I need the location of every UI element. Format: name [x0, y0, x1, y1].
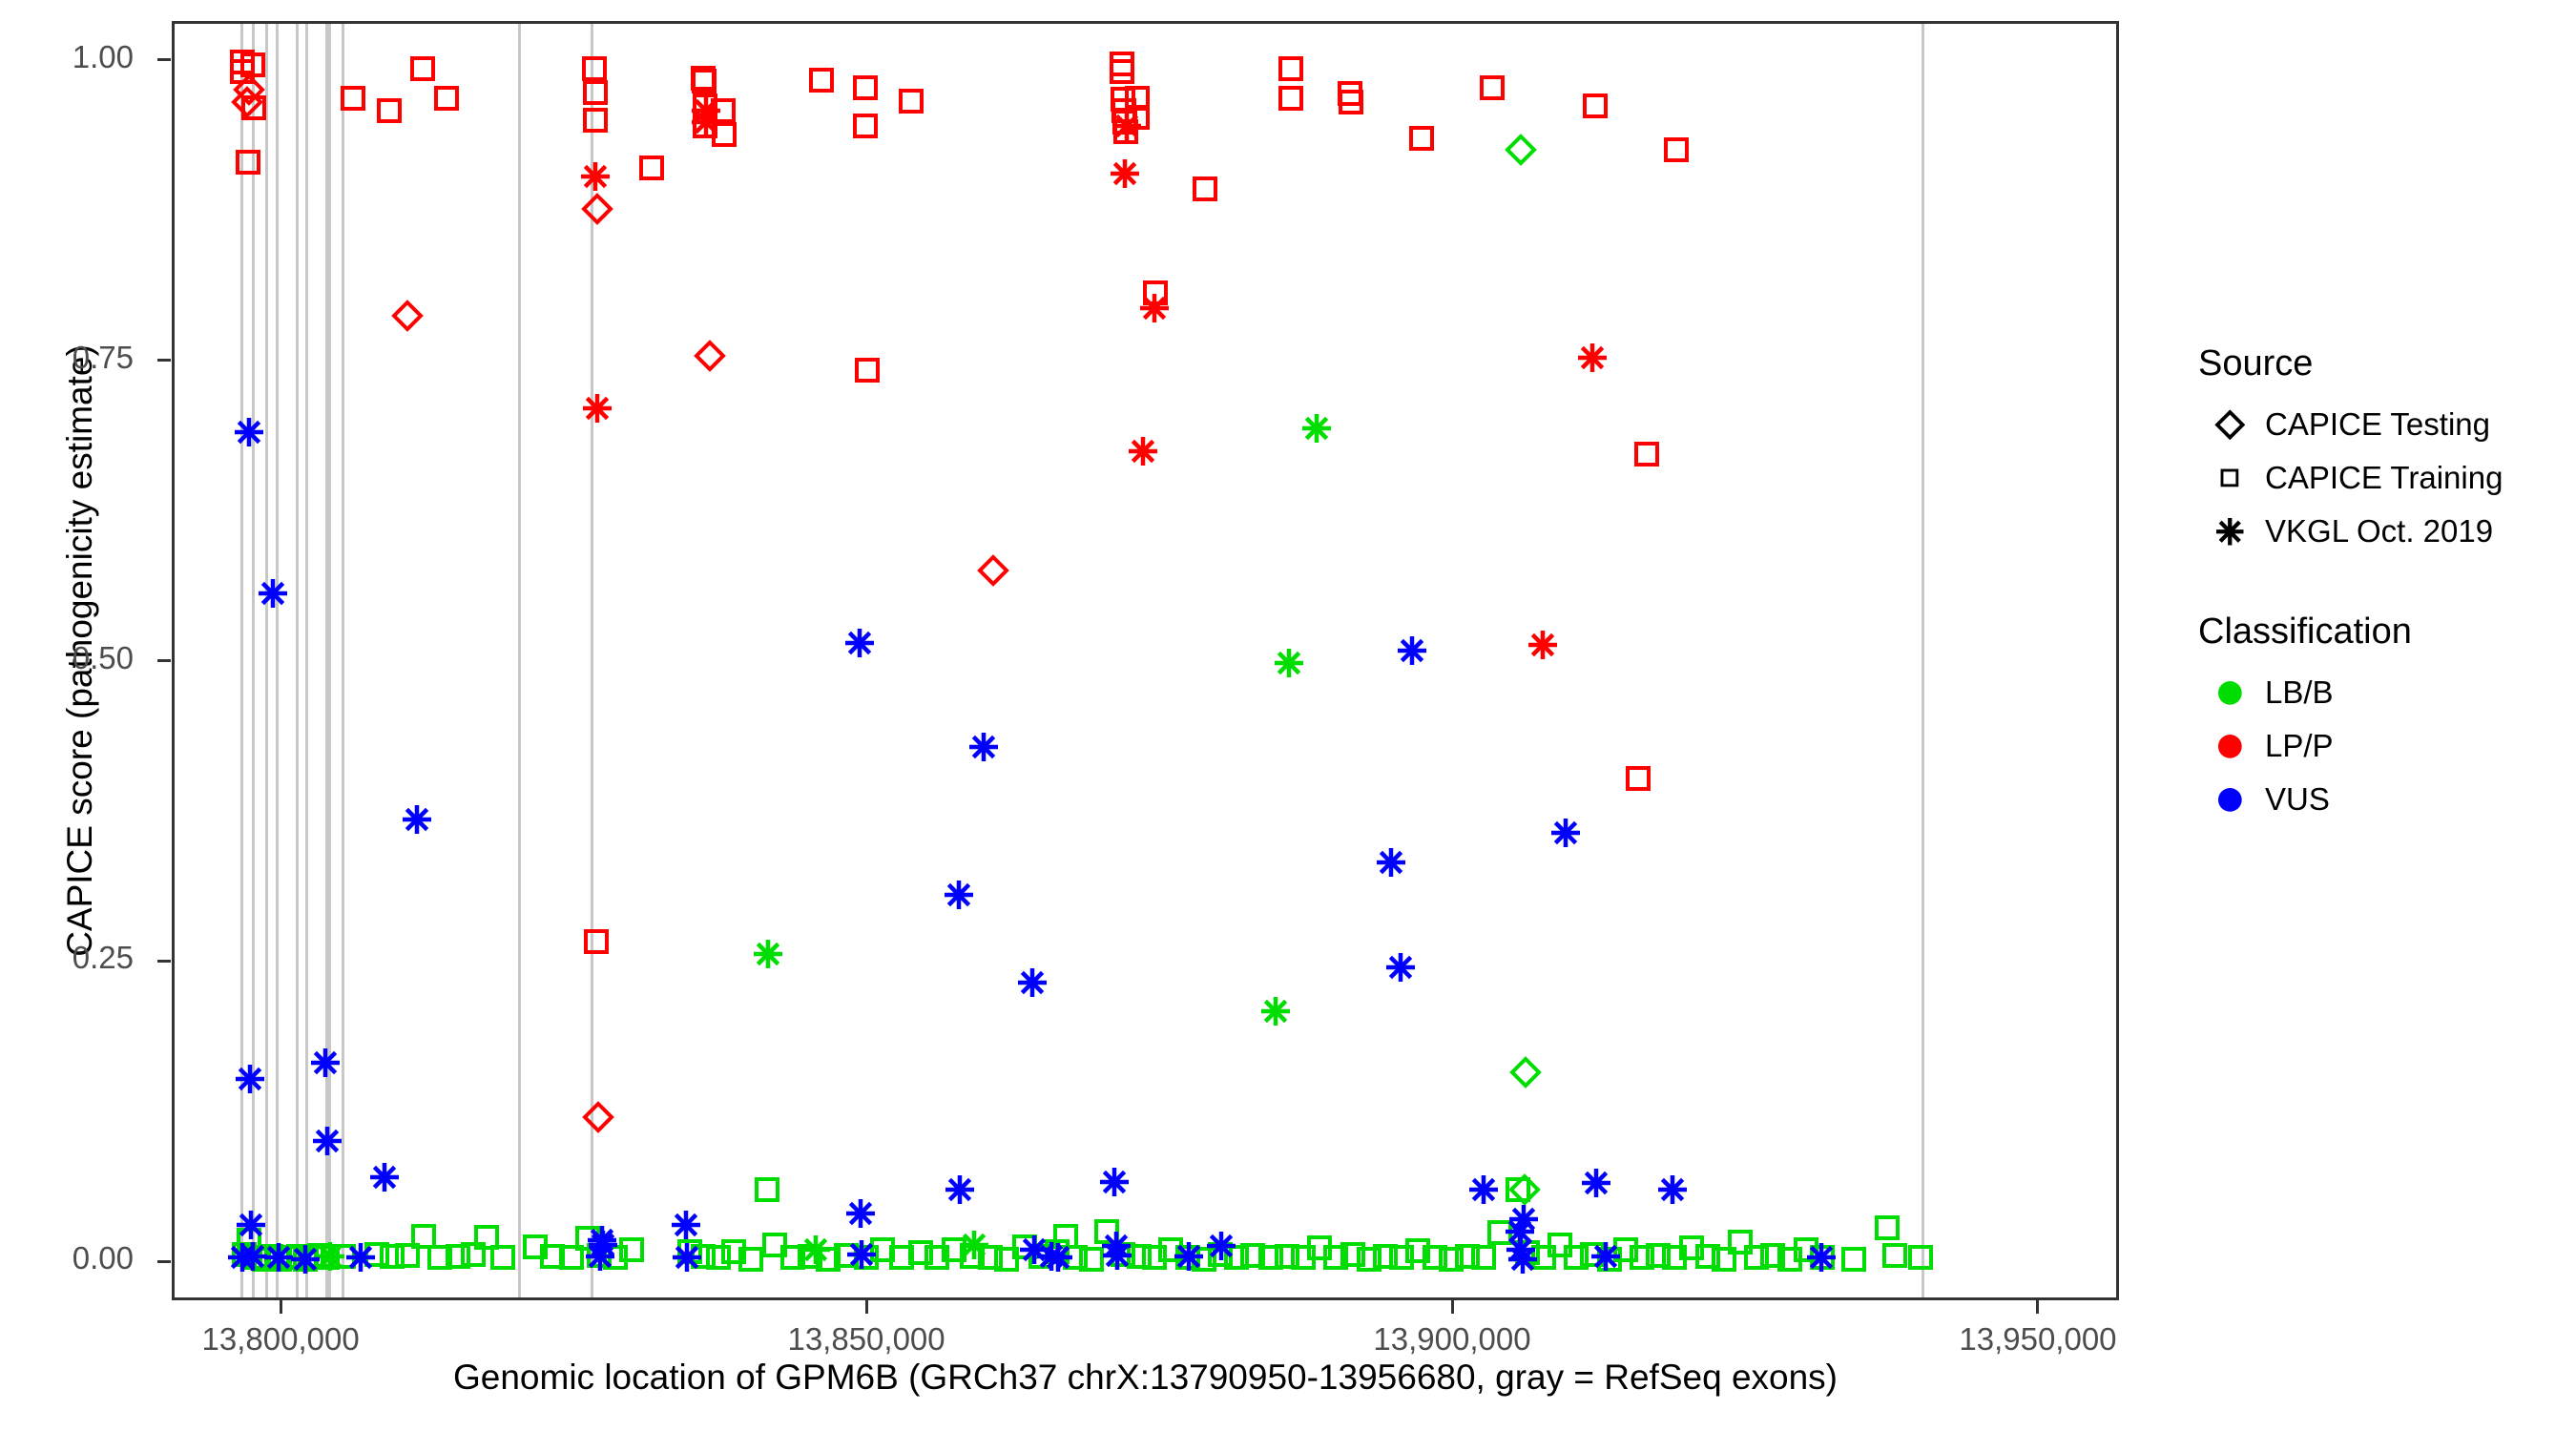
legend-group-title: Source [2198, 343, 2576, 384]
data-point [688, 93, 724, 129]
data-point [1356, 1246, 1382, 1273]
data-point [779, 1244, 806, 1271]
data-point [1016, 1232, 1052, 1268]
data-point [539, 1243, 566, 1270]
data-point [583, 928, 610, 955]
data-point [1044, 1238, 1070, 1265]
data-point [1548, 815, 1584, 851]
data-point [1033, 1238, 1070, 1275]
data-point [833, 1242, 860, 1269]
data-point [1874, 1214, 1901, 1241]
data-point [618, 1236, 645, 1263]
data-point [924, 1244, 950, 1271]
legend-item-label: LP/P [2265, 728, 2334, 764]
data-point [1803, 1239, 1839, 1275]
legend-item-lp-p[interactable]: LP/P [2194, 719, 2576, 773]
data-point [808, 67, 835, 93]
data-point [843, 1236, 880, 1273]
data-point [1278, 85, 1304, 112]
data-point [1840, 1246, 1867, 1273]
data-point [1322, 1244, 1349, 1271]
data-point [460, 1241, 487, 1268]
y-tick-mark [157, 359, 171, 362]
data-point [1505, 1176, 1531, 1203]
data-point [797, 1243, 823, 1270]
data-point [231, 86, 263, 118]
data-point [255, 575, 291, 612]
data-point [1257, 1244, 1284, 1271]
data-point [898, 88, 924, 114]
data-point [1582, 93, 1609, 119]
data-point [473, 1224, 500, 1251]
data-point [1093, 1218, 1120, 1245]
data-point [1809, 1244, 1836, 1271]
data-point [1111, 97, 1137, 124]
data-point [638, 155, 665, 181]
plot-panel [172, 21, 2119, 1300]
exon-band [518, 24, 521, 1297]
x-tick-mark [1451, 1300, 1454, 1314]
y-tick-mark [157, 1260, 171, 1263]
legend-spacer [2194, 558, 2576, 612]
y-tick-label: 1.00 [19, 39, 134, 75]
data-point [1142, 280, 1169, 306]
data-point [1596, 1246, 1623, 1273]
data-point [750, 936, 786, 972]
data-point [1505, 1241, 1541, 1277]
data-point [1408, 125, 1435, 152]
data-point [941, 877, 977, 913]
data-point [1125, 433, 1161, 469]
data-point [433, 85, 460, 112]
data-point [231, 414, 267, 450]
data-point [366, 1159, 403, 1195]
data-point [582, 79, 609, 106]
data-point [1514, 1239, 1541, 1266]
exon-band [305, 24, 308, 1297]
data-point [1743, 1244, 1770, 1271]
data-point [1479, 74, 1506, 101]
data-point [691, 68, 717, 94]
data-point [410, 1223, 437, 1250]
data-point [1588, 1238, 1624, 1275]
data-point [798, 1232, 834, 1268]
data-point [1271, 645, 1307, 681]
data-point [1793, 1236, 1819, 1263]
data-point [1141, 1244, 1168, 1271]
data-point [692, 113, 718, 139]
legend-item-vus[interactable]: VUS [2194, 773, 2576, 826]
legend-item-capice-training[interactable]: CAPICE Training [2194, 451, 2576, 505]
data-point [1174, 1244, 1201, 1271]
data-point [376, 97, 403, 124]
data-point [942, 1172, 978, 1208]
data-point [1171, 1238, 1207, 1275]
data-point [1645, 1242, 1672, 1269]
data-point [1223, 1244, 1250, 1271]
data-point [426, 1244, 453, 1271]
data-point [1112, 118, 1139, 145]
data-point [956, 1227, 992, 1263]
data-point [602, 1244, 629, 1271]
data-point [1776, 1246, 1803, 1273]
data-point [1040, 1239, 1076, 1275]
data-point [1096, 1164, 1132, 1200]
data-point [1503, 1232, 1539, 1268]
legend: Source CAPICE Testing CAPICE TrainingVKG… [2194, 343, 2576, 826]
legend-item-capice-testing[interactable]: CAPICE Testing [2194, 398, 2576, 451]
data-point [694, 340, 726, 372]
data-point [1563, 1244, 1589, 1271]
data-point [1278, 55, 1304, 82]
data-point [841, 625, 878, 661]
circle-filled-icon [2194, 679, 2265, 707]
data-point [581, 193, 613, 225]
data-point [577, 158, 613, 195]
x-axis-title: Genomic location of GPM6B (GRCh37 chrX:1… [172, 1353, 2119, 1402]
data-point [582, 1238, 618, 1275]
data-point [977, 554, 1009, 587]
data-point [1759, 1242, 1786, 1269]
plot-area [175, 24, 2116, 1297]
data-point [1438, 1246, 1465, 1273]
data-point [692, 93, 718, 119]
data-point [1508, 1173, 1541, 1206]
data-point [1109, 108, 1145, 144]
data-point [1052, 1223, 1079, 1250]
square-outline-icon [2194, 467, 2265, 488]
data-point [907, 1239, 934, 1266]
data-point [1109, 58, 1135, 85]
data-point [1422, 1244, 1448, 1271]
data-point [1099, 1237, 1135, 1274]
data-point [690, 1243, 717, 1270]
x-tick-mark [865, 1300, 868, 1314]
data-point [993, 1246, 1020, 1273]
data-point [558, 1244, 585, 1271]
data-point [1203, 1228, 1239, 1264]
data-point [1274, 1243, 1300, 1270]
data-point [1404, 1237, 1431, 1264]
data-point [1062, 1244, 1089, 1271]
legend-group-title: Classification [2198, 612, 2576, 653]
data-point [235, 149, 261, 176]
data-point [1110, 86, 1136, 113]
data-point [1486, 1219, 1513, 1246]
data-point [853, 1244, 880, 1271]
data-point [1678, 1234, 1705, 1261]
x-tick-mark [2036, 1300, 2039, 1314]
legend-item-label: CAPICE Testing [2265, 406, 2490, 443]
data-point [705, 1244, 732, 1271]
data-point [1661, 1244, 1688, 1271]
data-point [299, 1244, 325, 1271]
data-point [1629, 1244, 1655, 1271]
data-point [1191, 1246, 1217, 1273]
data-point [1578, 1165, 1614, 1201]
data-point [1157, 1236, 1184, 1263]
data-point [232, 1061, 268, 1097]
y-tick-label: 0.50 [19, 640, 134, 676]
data-point [1124, 85, 1151, 112]
data-point [1525, 627, 1561, 663]
exon-band [342, 24, 344, 1297]
data-point [1506, 1201, 1542, 1237]
exon-band [591, 24, 593, 1297]
data-point [1338, 89, 1364, 115]
data-point [1711, 1246, 1737, 1273]
circle-filled-icon [2194, 733, 2265, 760]
legend-item-label: VKGL Oct. 2019 [2265, 513, 2493, 550]
data-point [233, 73, 265, 106]
data-point [888, 1244, 915, 1271]
data-point [1337, 80, 1363, 107]
data-point [1014, 964, 1050, 1001]
data-point [669, 1239, 705, 1275]
data-point [1011, 1234, 1038, 1260]
data-point [959, 1243, 986, 1270]
data-point [676, 1238, 703, 1265]
legend-item-vkgl-oct-2019[interactable]: VKGL Oct. 2019 [2194, 505, 2576, 558]
data-point [1340, 1241, 1366, 1268]
exon-band [240, 24, 243, 1297]
data-point [1028, 1243, 1054, 1270]
data-point [710, 97, 737, 124]
data-point [522, 1234, 549, 1260]
y-tick-label: 0.00 [19, 1240, 134, 1276]
data-point [364, 1241, 390, 1268]
data-point [1136, 290, 1173, 326]
y-tick-mark [157, 960, 171, 963]
data-point [1110, 1241, 1136, 1268]
data-point [869, 1236, 896, 1263]
y-tick-label: 0.75 [19, 340, 134, 376]
data-point [1465, 1172, 1502, 1208]
data-point [966, 729, 1002, 765]
data-point [1107, 156, 1143, 192]
data-point [854, 357, 881, 384]
data-point [1394, 633, 1430, 669]
data-point [1192, 176, 1218, 202]
data-point [711, 121, 737, 148]
data-point [584, 1222, 620, 1258]
data-point [761, 1232, 788, 1258]
data-point [1382, 949, 1419, 985]
exon-band [328, 24, 331, 1297]
data-point [1881, 1242, 1908, 1269]
data-point [1239, 1242, 1266, 1269]
data-point [1078, 1246, 1105, 1273]
data-point [582, 107, 609, 134]
exon-band [252, 24, 255, 1297]
diamond-outline-icon [2194, 409, 2265, 441]
asterisk-icon [2194, 514, 2265, 550]
data-point [343, 1239, 379, 1275]
data-point [1111, 109, 1138, 135]
data-point [574, 1225, 601, 1252]
data-point [688, 104, 724, 140]
data-point [1306, 1234, 1333, 1261]
data-point [445, 1243, 471, 1270]
data-point [579, 390, 615, 426]
exon-band [296, 24, 299, 1297]
data-point [1470, 1244, 1497, 1271]
data-point [852, 113, 879, 139]
data-point [1388, 1244, 1415, 1271]
data-point [754, 1176, 780, 1203]
data-point [720, 1238, 747, 1265]
y-tick-label: 0.25 [19, 940, 134, 976]
data-point [1454, 1243, 1481, 1270]
data-point [1372, 1243, 1399, 1270]
data-point [1663, 136, 1690, 163]
data-point [941, 1236, 967, 1263]
data-point [1579, 1241, 1606, 1268]
data-point [977, 1244, 1004, 1271]
data-point [1625, 765, 1652, 792]
data-point [1612, 1236, 1639, 1263]
data-point [1298, 410, 1335, 446]
y-tick-mark [157, 58, 171, 61]
legend-item-label: CAPICE Training [2265, 460, 2503, 496]
legend-item-label: LB/B [2265, 674, 2334, 711]
data-point [1109, 51, 1135, 77]
data-point [1530, 1244, 1557, 1271]
data-point [1509, 1056, 1542, 1089]
exon-band [276, 24, 279, 1297]
data-point [1098, 1228, 1134, 1264]
data-point [1290, 1244, 1317, 1271]
data-point [399, 801, 435, 838]
data-point [1373, 844, 1409, 881]
data-point [1207, 1241, 1234, 1268]
x-tick-mark [280, 1300, 282, 1314]
data-point [1633, 441, 1660, 467]
data-point [690, 65, 717, 92]
data-point [258, 1243, 284, 1270]
data-point [391, 300, 424, 332]
y-tick-mark [157, 659, 171, 662]
data-point [1502, 1213, 1538, 1250]
data-point [1727, 1229, 1754, 1255]
data-point [1505, 134, 1537, 166]
data-point [1547, 1232, 1573, 1258]
data-point [394, 1242, 421, 1269]
data-point [1694, 1243, 1721, 1270]
data-point [1654, 1172, 1691, 1208]
data-point [668, 1207, 704, 1243]
data-point [815, 1246, 841, 1273]
circle-filled-icon [2194, 786, 2265, 814]
legend-item-lb-b[interactable]: LB/B [2194, 666, 2576, 719]
data-point [1126, 1243, 1153, 1270]
data-point [582, 1101, 614, 1133]
data-point [379, 1243, 405, 1270]
data-point [409, 55, 436, 82]
data-point [489, 1244, 516, 1271]
exon-band [265, 24, 268, 1297]
data-point [1124, 104, 1151, 131]
chart-figure: CAPICE score (pathogenicity estimate) [0, 0, 2576, 1431]
data-point [581, 55, 608, 82]
data-point [266, 1246, 293, 1273]
data-point [852, 74, 879, 101]
legend-item-label: VUS [2265, 781, 2330, 818]
data-point [842, 1195, 879, 1232]
data-point [737, 1246, 764, 1273]
exon-band [1922, 24, 1924, 1297]
data-point [1574, 340, 1610, 376]
data-point [1257, 993, 1294, 1029]
